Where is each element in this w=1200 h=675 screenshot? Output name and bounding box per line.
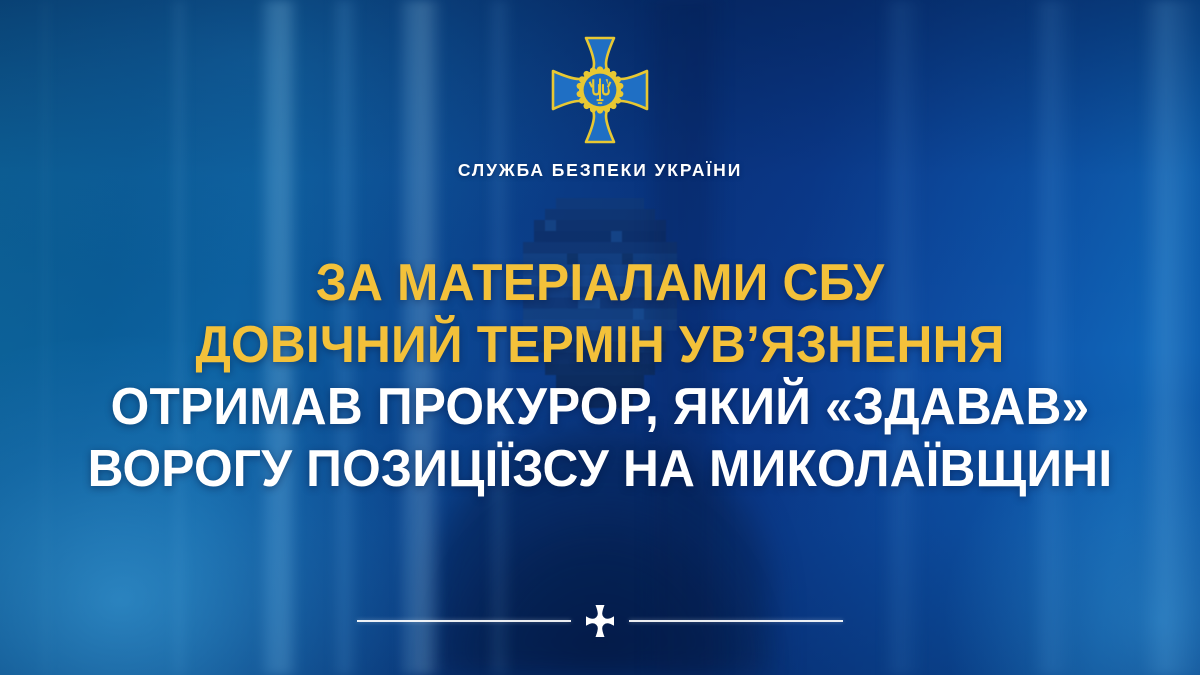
cross-pattee-icon: [585, 604, 615, 638]
headline-block: ЗА МАТЕРІАЛАМИ СБУ ДОВІЧНИЙ ТЕРМІН УВ’ЯЗ…: [0, 252, 1200, 500]
sbu-announcement-graphic: СЛУЖБА БЕЗПЕКИ УКРАЇНИ ЗА МАТЕРІАЛАМИ СБ…: [0, 0, 1200, 675]
headline-line-1: ЗА МАТЕРІАЛАМИ СБУ: [27, 252, 1173, 314]
headline-line-2: ДОВІЧНИЙ ТЕРМІН УВ’ЯЗНЕННЯ: [27, 314, 1173, 376]
bottom-divider: [0, 604, 1200, 638]
emblem-block: СЛУЖБА БЕЗПЕКИ УКРАЇНИ: [0, 34, 1200, 181]
headline-line-4: ВОРОГУ ПОЗИЦІЇЗСУ НА МИКОЛАЇВЩИНІ: [27, 438, 1173, 500]
sbu-cross-emblem-icon: [548, 34, 652, 146]
organization-name: СЛУЖБА БЕЗПЕКИ УКРАЇНИ: [458, 160, 742, 181]
headline-line-3: ОТРИМАВ ПРОКУРОР, ЯКИЙ «ЗДАВАВ»: [27, 376, 1173, 438]
divider-rule-left: [357, 620, 571, 622]
divider-rule-right: [629, 620, 843, 622]
